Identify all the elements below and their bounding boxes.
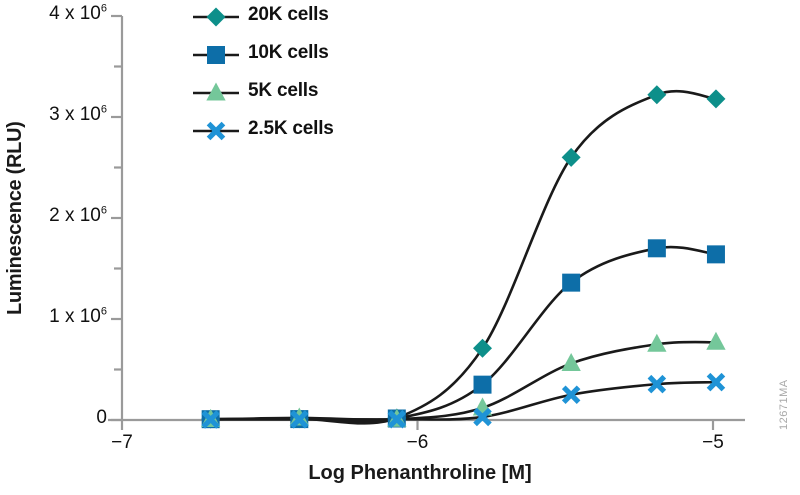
legend-marker-2 bbox=[193, 83, 239, 101]
y-tick-label: 3 x 106 bbox=[49, 104, 107, 126]
x-tick-label: −6 bbox=[378, 432, 458, 454]
plot-area bbox=[0, 0, 800, 495]
y-tick-label: 2 x 106 bbox=[49, 205, 107, 227]
x-tick-label: −5 bbox=[673, 432, 753, 454]
x-tick-label: −7 bbox=[82, 432, 162, 454]
legend-marker-0 bbox=[193, 8, 239, 27]
legend-label-1: 10K cells bbox=[248, 42, 329, 64]
series-markers-3 bbox=[196, 367, 731, 434]
y-tick-label: 0 bbox=[96, 407, 107, 429]
series-markers-1 bbox=[202, 239, 725, 428]
chart-figure: Luminescence (RLU) Log Phenanthroline [M… bbox=[0, 0, 800, 495]
series-line-1 bbox=[211, 247, 716, 421]
legend-label-0: 20K cells bbox=[248, 4, 329, 26]
legend-marker-3 bbox=[193, 116, 239, 146]
y-tick-label: 4 x 106 bbox=[49, 3, 107, 25]
series-line-0 bbox=[211, 91, 716, 423]
legend-marker-1 bbox=[193, 46, 239, 64]
series-line-2 bbox=[211, 342, 716, 420]
legend-label-2: 5K cells bbox=[248, 80, 318, 102]
y-tick-label: 1 x 106 bbox=[49, 306, 107, 328]
legend-label-3: 2.5K cells bbox=[248, 118, 334, 140]
